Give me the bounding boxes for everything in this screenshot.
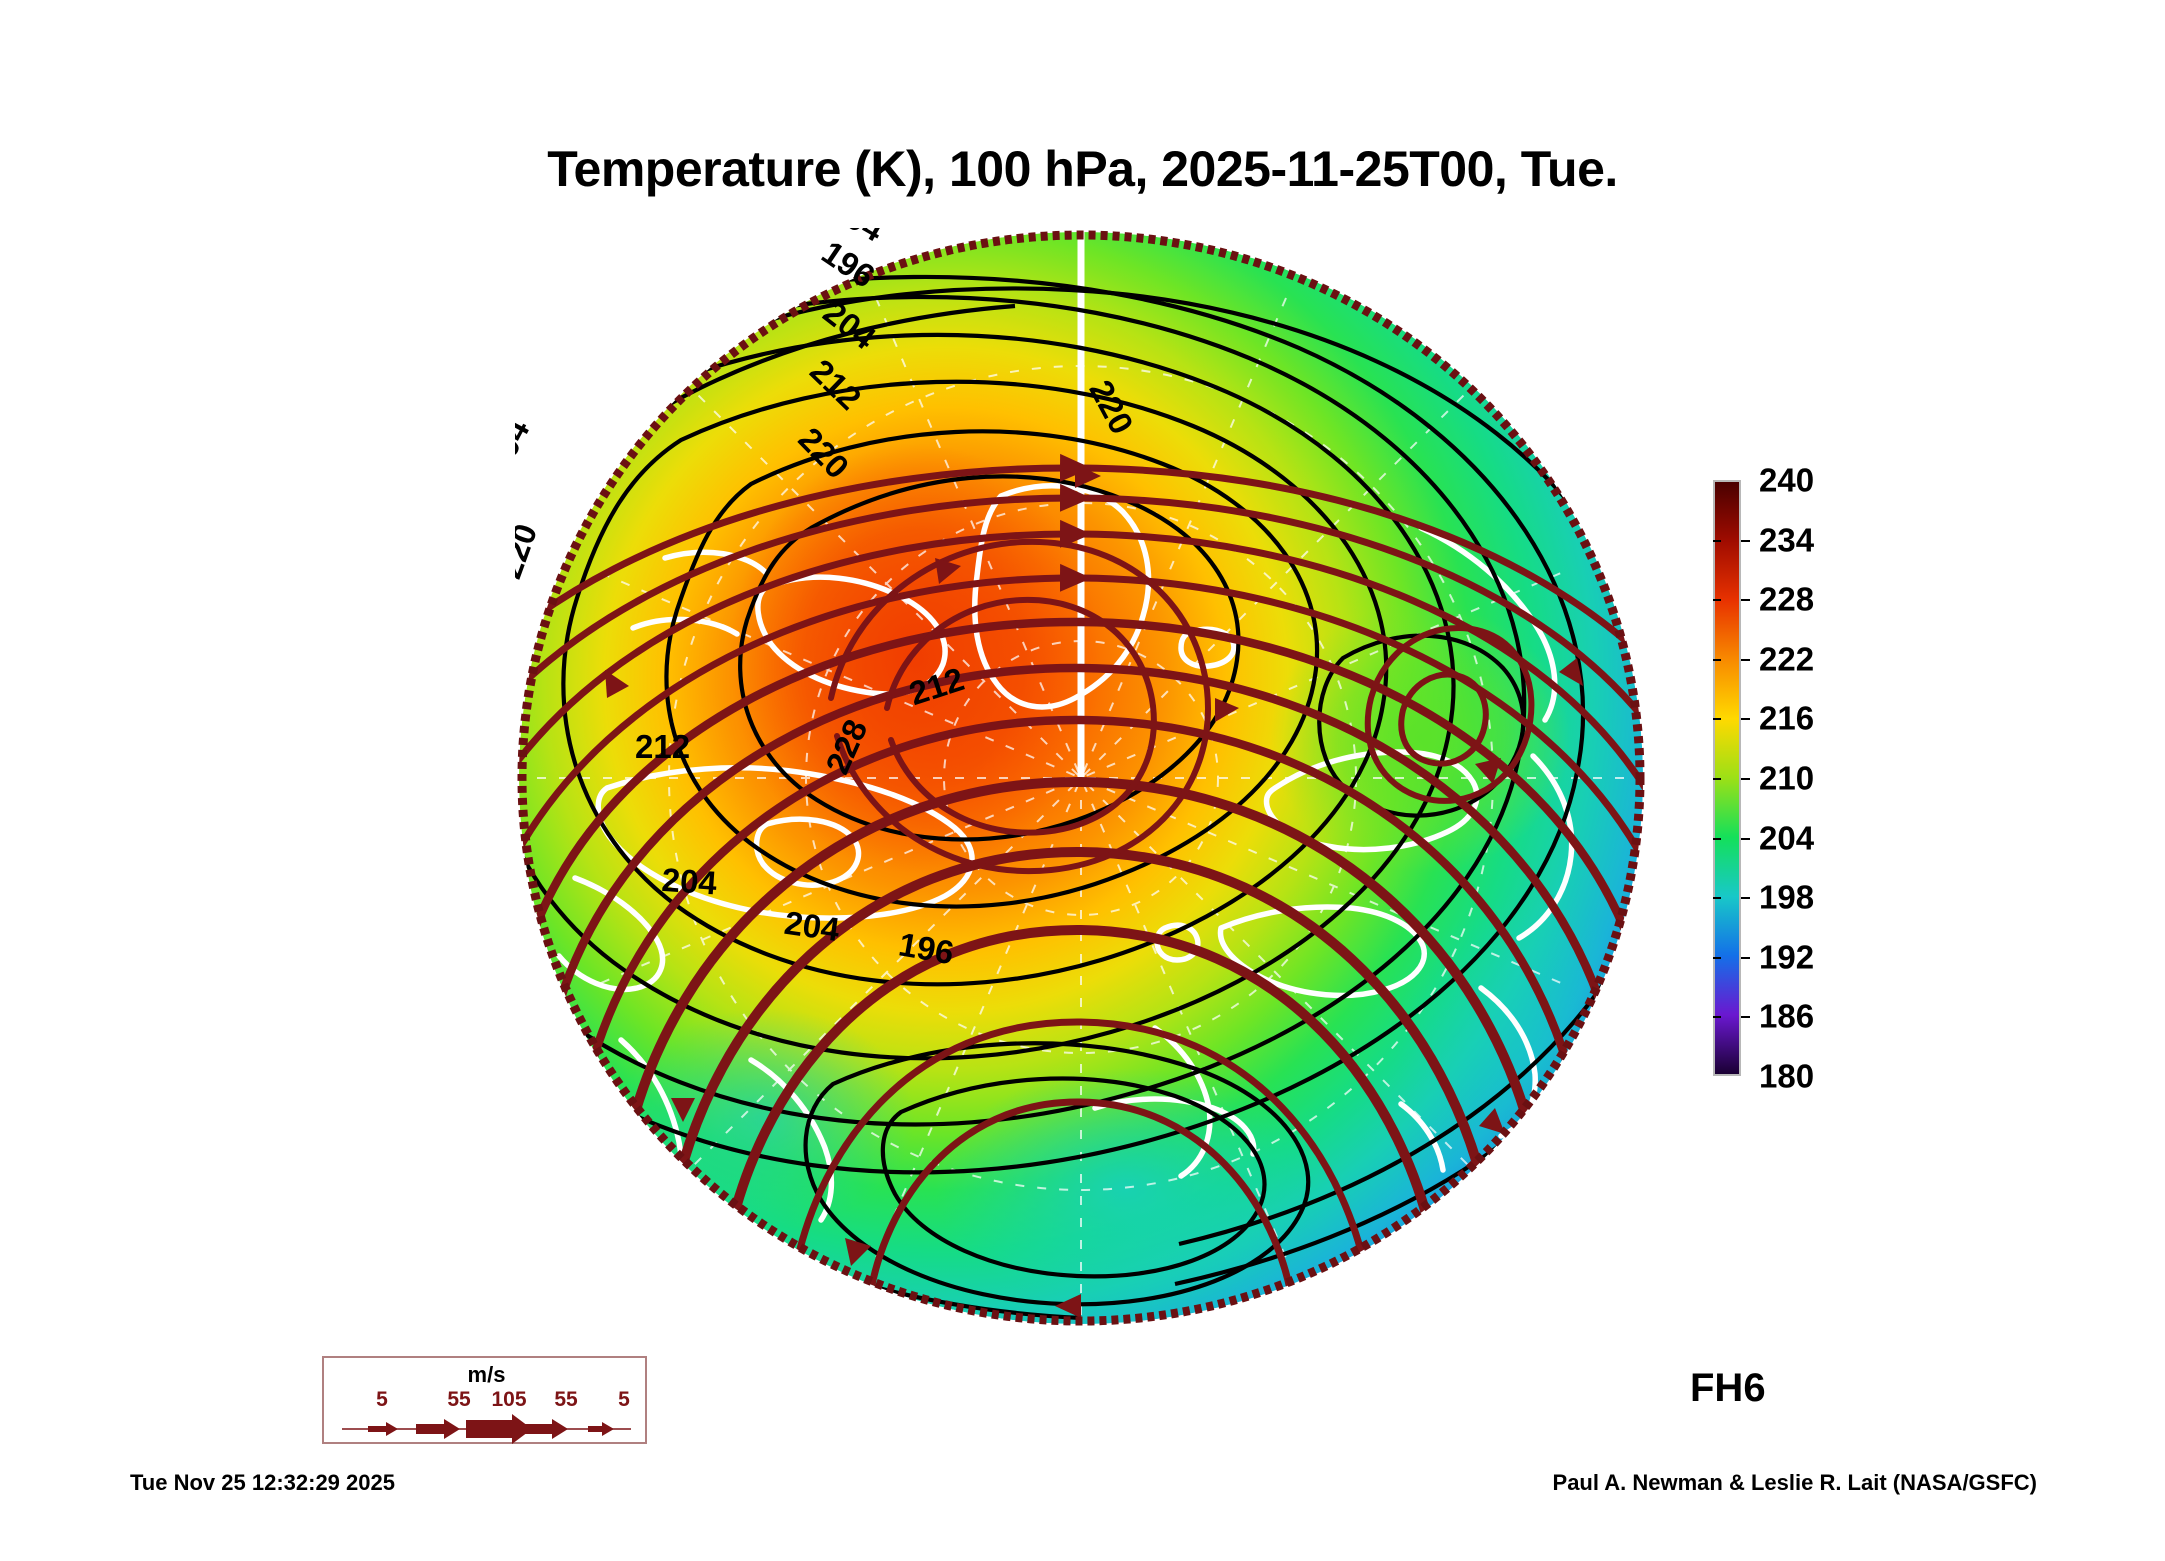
svg-text:204: 204 xyxy=(782,904,842,948)
colorbar-tick xyxy=(1741,957,1750,959)
colorbar-tick-inner xyxy=(1713,1016,1721,1018)
colorbar-tick xyxy=(1741,718,1750,720)
svg-text:220: 220 xyxy=(515,519,544,583)
svg-text:204: 204 xyxy=(661,861,719,902)
colorbar-tick-inner xyxy=(1713,838,1721,840)
colorbar-tick-inner xyxy=(1713,778,1721,780)
wind-arrow-scale xyxy=(324,1414,649,1444)
colorbar-tick xyxy=(1741,838,1750,840)
wind-value-label: 5 xyxy=(376,1388,388,1412)
wind-value-label: 55 xyxy=(447,1388,470,1412)
colorbar-tick-label: 192 xyxy=(1759,940,1814,973)
colorbar-tick-label: 204 xyxy=(1759,821,1814,854)
colorbar-tick xyxy=(1741,540,1750,542)
colorbar-tick xyxy=(1741,1016,1750,1018)
colorbar-tick-label: 180 xyxy=(1759,1060,1814,1093)
colorbar-tick-label: 216 xyxy=(1759,702,1814,735)
colorbar-tick-label: 234 xyxy=(1759,523,1814,556)
colorbar-tick-inner xyxy=(1713,718,1721,720)
colorbar-tick-inner xyxy=(1713,957,1721,959)
wind-value-label: 5 xyxy=(618,1388,630,1412)
wind-value-label: 105 xyxy=(491,1388,526,1412)
colorbar-tick-label: 186 xyxy=(1759,1000,1814,1033)
colorbar-tick-label: 240 xyxy=(1759,464,1814,497)
colorbar-tick-inner xyxy=(1713,897,1721,899)
colorbar-tick-label: 198 xyxy=(1759,881,1814,914)
colorbar-tick-label: 228 xyxy=(1759,583,1814,616)
polar-temperature-map[interactable]: 196 196 204 212 220 204 220 228 212 212 … xyxy=(515,228,1647,1328)
colorbar-tick-label: 210 xyxy=(1759,762,1814,795)
page-title: Temperature (K), 100 hPa, 2025-11-25T00,… xyxy=(0,140,2165,198)
colorbar-tick xyxy=(1741,778,1750,780)
colorbar-tick xyxy=(1741,897,1750,899)
author-credit: Paul A. Newman & Leslie R. Lait (NASA/GS… xyxy=(1553,1470,2037,1496)
map-canvas[interactable]: 196 196 204 212 220 204 220 228 212 212 … xyxy=(515,228,1647,1328)
colorbar-tick-label: 222 xyxy=(1759,642,1814,675)
wind-unit-label: m/s xyxy=(324,1362,649,1388)
colorbar-tick-inner xyxy=(1713,599,1721,601)
svg-text:204: 204 xyxy=(515,413,537,480)
wind-value-label: 55 xyxy=(554,1388,577,1412)
generation-timestamp: Tue Nov 25 12:32:29 2025 xyxy=(130,1470,395,1496)
colorbar-tick xyxy=(1741,659,1750,661)
colorbar[interactable]: 240234228222216210204198192186180 xyxy=(1705,472,2035,1092)
forecast-hour-label: FH6 xyxy=(1690,1366,1766,1411)
colorbar-tick-inner xyxy=(1713,659,1721,661)
colorbar-tick-inner xyxy=(1713,540,1721,542)
svg-text:212: 212 xyxy=(635,728,690,765)
wind-speed-legend[interactable]: m/s 555105555 xyxy=(322,1356,647,1444)
colorbar-tick xyxy=(1741,599,1750,601)
